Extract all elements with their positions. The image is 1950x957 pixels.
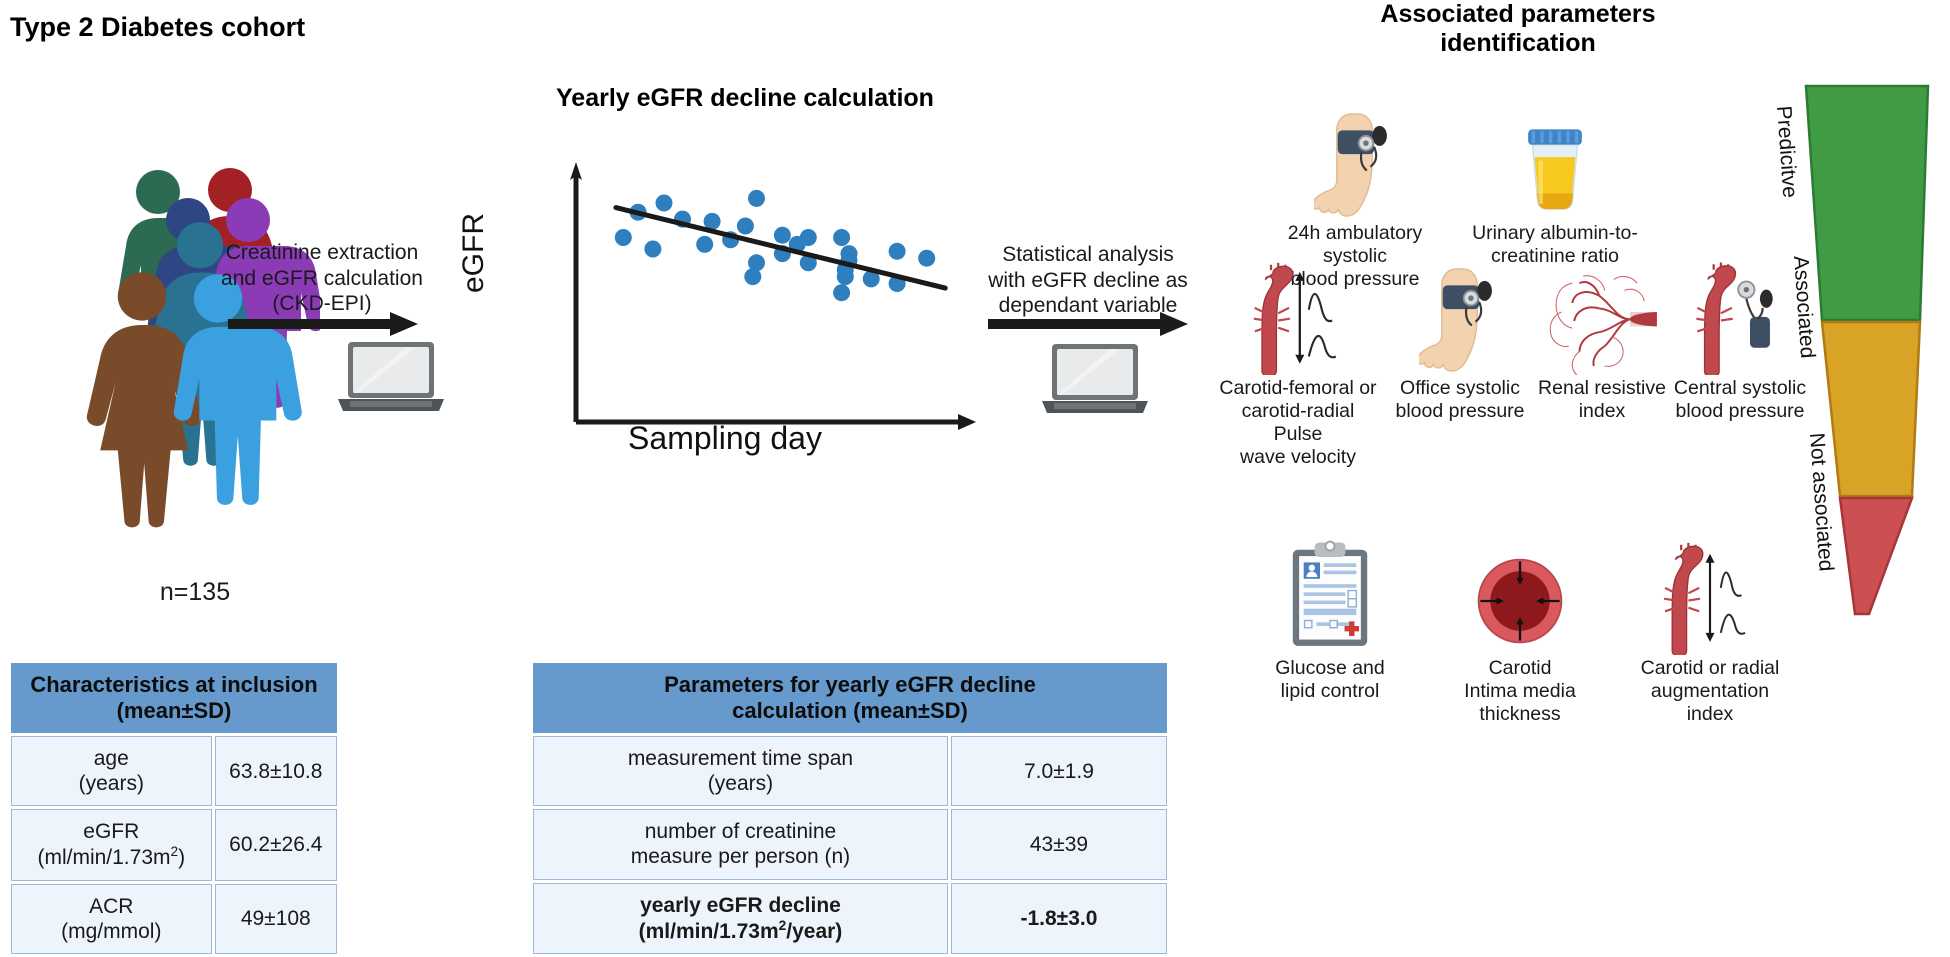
table-characteristics: Characteristics at inclusion (mean±SD) a… [8, 660, 340, 957]
scatter-point [696, 236, 713, 253]
table-header-line2: (mean±SD) [17, 698, 331, 724]
scatter-point [644, 241, 661, 258]
table-header-line2: calculation (mean±SD) [539, 698, 1161, 724]
page-title-cohort: Type 2 Diabetes cohort [10, 12, 305, 43]
parameter-item: Office systolicblood pressure [1380, 245, 1540, 423]
parameter-caption-line2: blood pressure [1380, 400, 1540, 423]
aorta-waveform-icon [1620, 520, 1800, 655]
row-label: age (years) [11, 736, 212, 806]
parameter-item: Carotid-femoral orcarotid-radial Pulsewa… [1218, 245, 1378, 469]
row-label: number of creatinine measure per person … [533, 809, 948, 879]
arrow1-caption-line2: and eGFR calculation [212, 266, 432, 292]
parameter-caption-line1: Carotid [1430, 657, 1610, 680]
row-label-line2: (mg/mmol) [20, 919, 203, 944]
scatter-point [748, 190, 765, 207]
scatter-point [737, 218, 754, 235]
table-header-line1: Parameters for yearly eGFR decline [539, 672, 1161, 698]
row-label: yearly eGFR decline (ml/min/1.73m2/year) [533, 883, 948, 954]
parameter-caption-line1: Carotid-femoral or [1218, 377, 1378, 400]
parameter-caption: Office systolicblood pressure [1380, 377, 1540, 423]
row-label-line1: measurement time span [542, 746, 939, 771]
row-label-line1: ACR [20, 894, 203, 919]
row-label-line1: age [20, 746, 203, 771]
x-axis-arrowhead-icon [958, 414, 976, 430]
artery-cross-section-icon [1430, 520, 1610, 655]
scatter-point [889, 243, 906, 260]
clipboard-chart-icon [1240, 520, 1420, 655]
parameter-caption: CarotidIntima mediathickness [1430, 657, 1610, 726]
parameter-caption-line1: Glucose and [1240, 657, 1420, 680]
parameter-caption-line3: wave velocity [1218, 446, 1378, 469]
funnel-segment-predictive [1806, 86, 1928, 320]
scatter-point [774, 227, 791, 244]
characteristics-table: Characteristics at inclusion (mean±SD) a… [8, 660, 340, 957]
parameter-item: Urinary albumin-to-creatinine ratio [1460, 75, 1650, 268]
parameter-item: Renal resistiveindex [1522, 245, 1682, 423]
row-value: 7.0±1.9 [951, 736, 1167, 806]
funnel-segment-not-associated [1840, 498, 1912, 614]
parameter-caption-line2: carotid-radial Pulse [1218, 400, 1378, 446]
table-header-cell: Characteristics at inclusion (mean±SD) [11, 663, 337, 733]
arm-bp-cuff-icon [1380, 245, 1540, 375]
parameter-caption: Carotid or radialaugmentationindex [1620, 657, 1800, 726]
table-row: ACR (mg/mmol) 49±108 [11, 884, 337, 954]
parameter-caption-line1: Carotid or radial [1620, 657, 1800, 680]
section-title-yearly-decline: Yearly eGFR decline calculation [556, 84, 934, 113]
aorta-pulse-wave-icon [1218, 245, 1378, 375]
table-header-cell: Parameters for yearly eGFR decline calcu… [533, 663, 1167, 733]
y-axis-label: eGFR [457, 183, 491, 323]
process-arrow-1-icon [228, 312, 418, 336]
scatter-point [615, 229, 632, 246]
arrow2-caption: Statistical analysis with eGFR decline a… [988, 242, 1188, 319]
section-title-associated-parameters: Associated parameters identification [1318, 0, 1718, 58]
parameter-caption-line3: index [1620, 703, 1800, 726]
row-label: ACR (mg/mmol) [11, 884, 212, 954]
row-value: 63.8±10.8 [215, 736, 337, 806]
parameter-caption-line2: augmentation [1620, 680, 1800, 703]
row-label-line2: (years) [542, 771, 939, 796]
row-label-line2: (ml/min/1.73m2) [20, 844, 203, 870]
table-row: measurement time span (years) 7.0±1.9 [533, 736, 1167, 806]
row-label-line1: number of creatinine [542, 819, 939, 844]
parameter-item: CarotidIntima mediathickness [1430, 520, 1610, 726]
parameter-caption: Renal resistiveindex [1522, 377, 1682, 423]
parameter-item: Glucose andlipid control [1240, 520, 1420, 703]
arrow1-caption: Creatinine extraction and eGFR calculati… [212, 240, 432, 317]
scatter-point [744, 268, 761, 285]
row-label-line2: (years) [20, 771, 203, 796]
parameter-caption-line2: index [1522, 400, 1682, 423]
parameter-caption-line2: Intima media [1430, 680, 1610, 703]
x-axis-label: Sampling day [520, 420, 930, 457]
parameter-item: Carotid or radialaugmentationindex [1620, 520, 1800, 726]
table-row: eGFR (ml/min/1.73m2) 60.2±26.4 [11, 809, 337, 880]
scatter-point [656, 195, 673, 212]
row-label: measurement time span (years) [533, 736, 948, 806]
table-header-row: Characteristics at inclusion (mean±SD) [11, 663, 337, 733]
row-label: eGFR (ml/min/1.73m2) [11, 809, 212, 880]
table-header-line1: Characteristics at inclusion [17, 672, 331, 698]
renal-artery-tree-icon [1522, 245, 1682, 375]
row-label-line1: yearly eGFR decline [542, 893, 939, 918]
cohort-people-illustration [70, 160, 320, 530]
arm-bp-cuff-icon [1260, 75, 1450, 220]
arrow1-caption-line1: Creatinine extraction [212, 240, 432, 266]
parameter-caption-line3: thickness [1430, 703, 1610, 726]
row-value: 43±39 [951, 809, 1167, 879]
table-row: age (years) 63.8±10.8 [11, 736, 337, 806]
table-row: number of creatinine measure per person … [533, 809, 1167, 879]
row-label-line2: (ml/min/1.73m2/year) [542, 918, 939, 944]
row-value: 60.2±26.4 [215, 809, 337, 880]
row-label-line1: eGFR [20, 819, 203, 844]
laptop-icon-1 [336, 338, 446, 414]
process-arrow-2-icon [988, 312, 1188, 336]
arrow2-caption-line2: with eGFR decline as [988, 268, 1188, 294]
row-value: 49±108 [215, 884, 337, 954]
cohort-size-label: n=135 [70, 578, 320, 607]
laptop-icon-2 [1040, 340, 1150, 416]
parameter-caption-line1: Renal resistive [1522, 377, 1682, 400]
scatter-point [833, 229, 850, 246]
arrow2-caption-line1: Statistical analysis [988, 242, 1188, 268]
table-row: yearly eGFR decline (ml/min/1.73m2/year)… [533, 883, 1167, 954]
table-parameters: Parameters for yearly eGFR decline calcu… [530, 660, 1170, 957]
row-value: -1.8±3.0 [951, 883, 1167, 954]
table-header-row: Parameters for yearly eGFR decline calcu… [533, 663, 1167, 733]
urine-sample-cup-icon [1460, 75, 1650, 220]
parameter-caption-line1: Urinary albumin-to- [1460, 222, 1650, 245]
parameter-caption: Carotid-femoral orcarotid-radial Pulsewa… [1218, 377, 1378, 469]
parameter-caption: Glucose andlipid control [1240, 657, 1420, 703]
parameter-caption-line1: Office systolic [1380, 377, 1540, 400]
row-label-line2: measure per person (n) [542, 844, 939, 869]
funnel-segment-associated [1822, 322, 1920, 496]
parameters-table: Parameters for yearly eGFR decline calcu… [530, 660, 1170, 957]
scatter-point [833, 284, 850, 301]
scatter-point [800, 229, 817, 246]
egfr-scatter-plot [530, 150, 980, 450]
parameter-caption-line2: lipid control [1240, 680, 1420, 703]
scatter-point [918, 250, 935, 267]
scatter-point [837, 268, 854, 285]
